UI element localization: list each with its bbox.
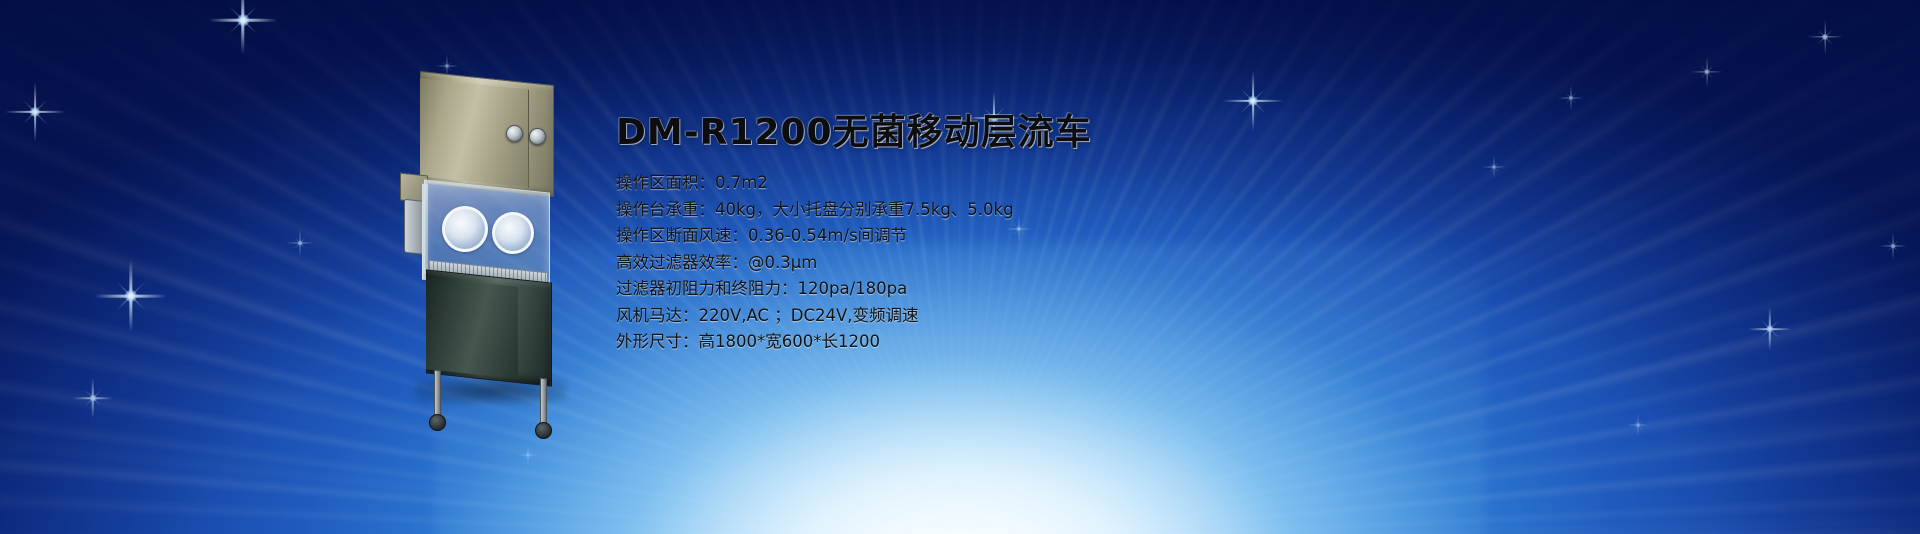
caster-wheel-icon bbox=[535, 422, 552, 439]
product-title: DM-R1200无菌移动层流车 bbox=[616, 112, 1376, 154]
spec-line: 操作区面积：0.7m2 bbox=[616, 170, 1376, 197]
cart-leg bbox=[540, 378, 547, 429]
cart-leg bbox=[434, 370, 441, 421]
glove-port-icon bbox=[442, 206, 488, 252]
caster-wheel-icon bbox=[429, 414, 446, 431]
pressure-gauge-icon bbox=[506, 125, 523, 142]
pressure-gauge-icon bbox=[529, 128, 546, 145]
spec-line: 过滤器初阻力和终阻力：120pa/180pa bbox=[616, 276, 1376, 303]
spec-list: 操作区面积：0.7m2操作台承重：40kg，大小托盘分别承重7.5kg、5.0k… bbox=[616, 170, 1376, 356]
spec-line: 操作区断面风速：0.36-0.54m/s间调节 bbox=[616, 223, 1376, 250]
spec-line: 操作台承重：40kg，大小托盘分别承重7.5kg、5.0kg bbox=[616, 197, 1376, 224]
spec-line: 外形尺寸：高1800*宽600*长1200 bbox=[616, 329, 1376, 356]
spec-line: 高效过滤器效率：@0.3μm bbox=[616, 250, 1376, 277]
product-image bbox=[398, 78, 583, 408]
promo-banner: DM-R1200无菌移动层流车 操作区面积：0.7m2操作台承重：40kg，大小… bbox=[0, 0, 1920, 534]
glove-port-icon bbox=[492, 212, 534, 254]
spec-line: 风机马达：220V,AC ；DC24V,变频调速 bbox=[616, 303, 1376, 330]
cabinet-lower-front bbox=[426, 277, 518, 379]
banner-copy: DM-R1200无菌移动层流车 操作区面积：0.7m2操作台承重：40kg，大小… bbox=[616, 112, 1376, 356]
